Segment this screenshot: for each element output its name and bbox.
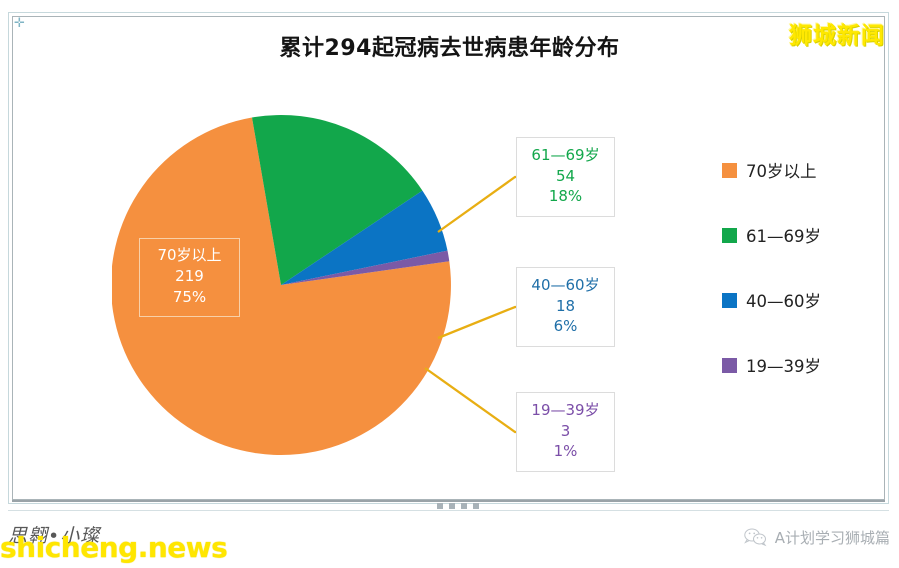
footer-text: A计划学习狮城篇 <box>775 527 890 548</box>
label-61-69-value: 54 <box>517 166 614 187</box>
move-handle-icon[interactable]: ✛ <box>13 17 26 30</box>
label-40-60-value: 18 <box>517 296 614 317</box>
legend-swatch-40-60 <box>722 293 737 308</box>
legend-label-70-plus: 70岁以上 <box>746 158 817 182</box>
watermark-site: shicheng.news <box>0 531 227 564</box>
legend-label-19-39: 19—39岁 <box>746 353 821 377</box>
label-19-39-title: 19—39岁 <box>517 400 614 421</box>
legend-label-61-69: 61—69岁 <box>746 223 821 247</box>
legend-label-40-60: 40—60岁 <box>746 288 821 312</box>
label-61-69-title: 61—69岁 <box>517 145 614 166</box>
legend-item-40-60[interactable]: 40—60岁 <box>722 288 872 312</box>
legend-swatch-19-39 <box>722 358 737 373</box>
label-40-60: 40—60岁 18 6% <box>516 267 615 347</box>
page-title: 累计294起冠病去世病患年龄分布 <box>0 30 899 62</box>
label-70-plus: 70岁以上 219 75% <box>139 238 240 317</box>
label-61-69: 61—69岁 54 18% <box>516 137 615 217</box>
label-40-60-percent: 6% <box>517 316 614 337</box>
legend-swatch-70-plus <box>722 163 737 178</box>
frame-bottom-rule <box>12 500 885 502</box>
resize-handle[interactable] <box>437 503 479 509</box>
screenshot-root: ✛ 累计294起冠病去世病患年龄分布 70岁以上 219 75% <box>0 0 899 568</box>
label-70-plus-percent: 75% <box>140 287 239 308</box>
label-70-plus-title: 70岁以上 <box>140 245 239 266</box>
legend-item-70-plus[interactable]: 70岁以上 <box>722 158 872 182</box>
legend-item-61-69[interactable]: 61—69岁 <box>722 223 872 247</box>
label-19-39-percent: 1% <box>517 441 614 462</box>
label-19-39-value: 3 <box>517 421 614 442</box>
label-61-69-percent: 18% <box>517 186 614 207</box>
label-40-60-title: 40—60岁 <box>517 275 614 296</box>
frame-bottom-rule-secondary <box>8 510 889 511</box>
legend-swatch-61-69 <box>722 228 737 243</box>
chart-legend: 70岁以上 61—69岁 40—60岁 19—39岁 <box>722 158 872 418</box>
footer: A计划学习狮城篇 <box>470 524 890 550</box>
wechat-icon <box>744 527 768 547</box>
legend-item-19-39[interactable]: 19—39岁 <box>722 353 872 377</box>
label-70-plus-value: 219 <box>140 266 239 287</box>
label-19-39: 19—39岁 3 1% <box>516 392 615 472</box>
watermark-top-right: 狮城新闻 <box>789 16 885 50</box>
